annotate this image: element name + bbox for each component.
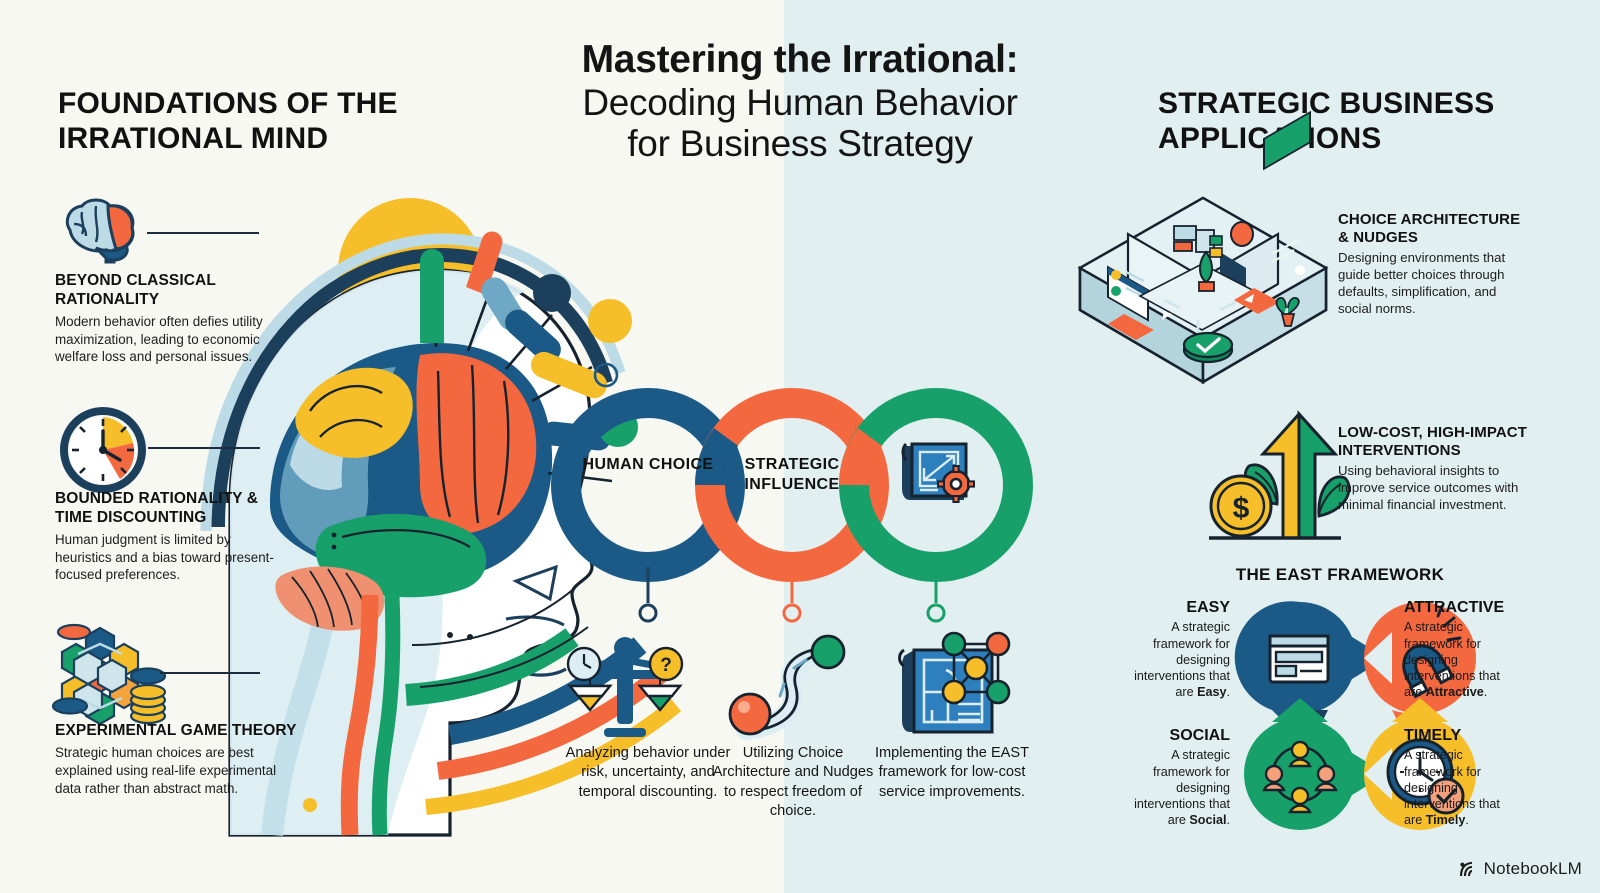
brain-icon (56, 196, 142, 266)
blueprint-network-icon (888, 630, 1018, 740)
feature-title: BOUNDED RATIONALITY & TIME DISCOUNTING (55, 490, 290, 528)
feature-body: Modern behavior often defies utility max… (55, 313, 290, 366)
feature-bounded-rationality: BOUNDED RATIONALITY & TIME DISCOUNTING H… (55, 490, 290, 584)
feature-low-cost-interventions: LOW-COST, HIGH-IMPACT INTERVENTIONS Usin… (1338, 424, 1534, 513)
feature-beyond-classical-rationality: BEYOND CLASSICAL RATIONALITY Modern beha… (55, 272, 290, 366)
east-item-body-bold: Timely (1426, 813, 1466, 827)
title-line-2: Decoding Human Behavior (470, 82, 1130, 123)
title-line-1: Mastering the Irrational: (470, 38, 1130, 82)
left-column-title: FOUNDATIONS OF THE IRRATIONAL MIND (58, 86, 458, 157)
east-item-key: ATTRACTIVE (1404, 598, 1514, 618)
clock-icon (58, 405, 148, 495)
title-line-3: for Business Strategy (470, 123, 1130, 164)
feature-title: EXPERIMENTAL GAME THEORY (55, 722, 305, 741)
ring-caption-text: Utilizing Choice Architecture and Nudges… (713, 745, 874, 819)
ring-label-text: STRATEGIC INFLUENCE (744, 456, 839, 493)
ring-caption-3: Implementing the EAST framework for low-… (867, 744, 1037, 802)
feature-choice-architecture: CHOICE ARCHITECTURE & NUDGES Designing e… (1338, 211, 1524, 318)
feature-title: BEYOND CLASSICAL RATIONALITY (55, 272, 290, 310)
coin-growth-arrow-icon: $ (1205, 412, 1345, 550)
ring-chain (530, 385, 1075, 630)
feature-title: CHOICE ARCHITECTURE & NUDGES (1338, 211, 1524, 247)
svg-text:$: $ (1233, 492, 1250, 525)
feature-body: Designing environments that guide better… (1338, 249, 1524, 318)
balance-scale-person-icon: ? (560, 630, 690, 740)
svg-text:?: ? (660, 655, 672, 676)
east-item-body-suffix: . (1227, 813, 1231, 827)
feature-body: Using behavioral insights to improve ser… (1338, 462, 1534, 513)
feature-experimental-game-theory: EXPERIMENTAL GAME THEORY Strategic human… (55, 722, 305, 797)
watermark: NotebookLM (1458, 859, 1582, 879)
feature-body: Human judgment is limited by heuristics … (55, 531, 290, 584)
hexagon-game-theory-icon (48, 620, 178, 730)
east-item-body-bold: Easy (1197, 685, 1226, 699)
east-item-key: TIMELY (1404, 726, 1514, 746)
connector-line-2 (148, 447, 260, 449)
east-item-attractive: ATTRACTIVE A strategic framework for des… (1404, 598, 1514, 700)
ring-label-strategic-influence: STRATEGIC INFLUENCE (712, 455, 872, 494)
connector-line-1 (147, 232, 259, 234)
connector-line-3 (160, 672, 260, 674)
ring-caption-text: Analyzing behavior under risk, uncertain… (566, 745, 731, 800)
watermark-label: NotebookLM (1484, 859, 1582, 879)
east-item-body-bold: Social (1189, 813, 1226, 827)
blueprint-gear-icon (898, 438, 978, 514)
east-item-body-bold: Attractive (1426, 685, 1484, 699)
infographic-canvas: Mastering the Irrational: Decoding Human… (0, 0, 1600, 893)
page-title: Mastering the Irrational: Decoding Human… (470, 38, 1130, 165)
east-item-body-suffix: . (1465, 813, 1469, 827)
east-item-social: SOCIAL A strategic framework for designi… (1128, 726, 1230, 828)
ring-caption-2: Utilizing Choice Architecture and Nudges… (708, 744, 878, 822)
notebooklm-arc-icon (1458, 860, 1477, 879)
feature-body: Strategic human choices are best explain… (55, 744, 305, 797)
ring-label-human-choice: HUMAN CHOICE (568, 455, 728, 475)
ring-caption-text: Implementing the EAST framework for low-… (875, 745, 1029, 800)
east-item-body-suffix: . (1227, 685, 1231, 699)
east-item-timely: TIMELY A strategic framework for designi… (1404, 726, 1514, 828)
isometric-room-icon (1068, 190, 1338, 390)
right-column-title: STRATEGIC BUSINESS APPLICATIONS (1158, 86, 1538, 157)
east-item-body-suffix: . (1484, 685, 1488, 699)
east-badge-social (1244, 698, 1386, 830)
east-item-key: SOCIAL (1128, 726, 1230, 746)
east-item-key: EASY (1128, 598, 1230, 618)
east-framework-title: THE EAST FRAMEWORK (1190, 565, 1490, 585)
ring-label-text: HUMAN CHOICE (582, 456, 713, 473)
feature-title: LOW-COST, HIGH-IMPACT INTERVENTIONS (1338, 424, 1534, 460)
east-item-easy: EASY A strategic framework for designing… (1128, 598, 1230, 700)
winding-path-icon (728, 630, 858, 740)
